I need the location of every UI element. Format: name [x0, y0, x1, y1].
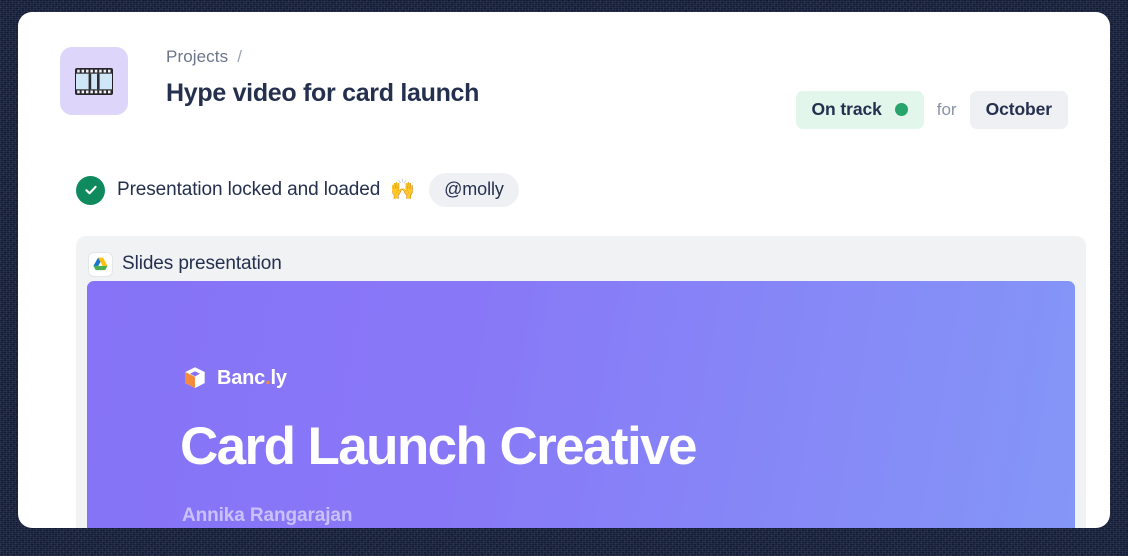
- bancly-cube-logo: Banc.ly: [182, 365, 287, 391]
- card-header: Projects / Hype video for card launch On…: [60, 47, 1068, 143]
- slide-preview[interactable]: Banc.ly Card Launch Creative Annika Rang…: [87, 281, 1075, 528]
- status-badge-label: On track: [812, 99, 882, 120]
- status-badge[interactable]: On track: [796, 91, 924, 129]
- brand-suffix: ly: [270, 367, 286, 389]
- title-block: Projects / Hype video for card launch: [166, 45, 479, 108]
- breadcrumb: Projects /: [166, 45, 479, 69]
- google-drive-icon: [89, 253, 112, 276]
- project-card: Projects / Hype video for card launch On…: [18, 12, 1110, 528]
- breadcrumb-item-projects[interactable]: Projects: [166, 45, 228, 69]
- attachment-header: Slides presentation: [76, 236, 1086, 281]
- attachment-title: Slides presentation: [122, 253, 282, 275]
- status-connector-word: for: [929, 100, 965, 120]
- period-badge[interactable]: October: [970, 91, 1068, 129]
- brand-name: Banc: [217, 367, 265, 389]
- slide-author: Annika Rangarajan: [182, 505, 352, 527]
- page-title: Hype video for card launch: [166, 78, 479, 108]
- breadcrumb-separator: /: [237, 45, 242, 69]
- status-cluster: On track for October: [796, 91, 1068, 129]
- film-strip-icon: [60, 47, 128, 115]
- check-circle-icon: [76, 176, 105, 205]
- status-update-row: Presentation locked and loaded 🙌 @molly: [76, 173, 519, 207]
- status-update-text: Presentation locked and loaded: [117, 179, 380, 201]
- bancly-wordmark: Banc.ly: [217, 367, 287, 390]
- raising-hands-emoji: 🙌: [390, 180, 415, 200]
- mention-pill-molly[interactable]: @molly: [429, 173, 519, 207]
- status-dot-icon: [895, 103, 908, 116]
- attachment-panel[interactable]: Slides presentation Banc.ly Card Launch …: [76, 236, 1086, 528]
- slide-title: Card Launch Creative: [180, 418, 696, 476]
